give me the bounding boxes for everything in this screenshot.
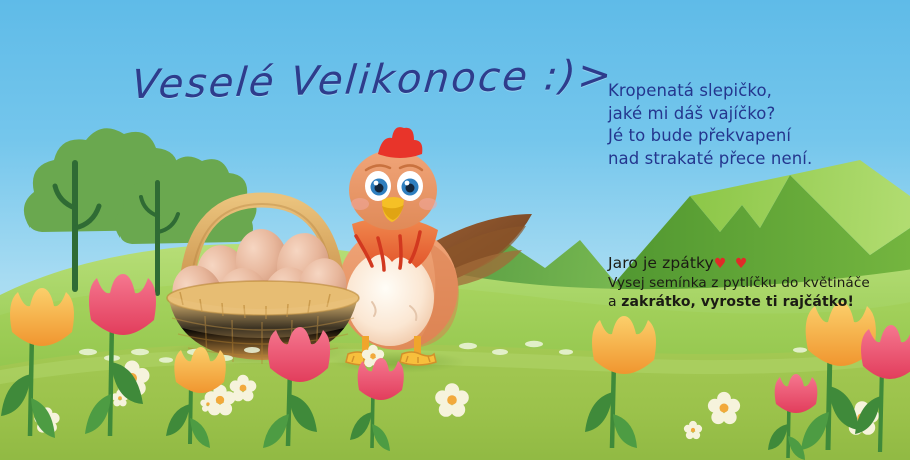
promo-line-3-bold: zakrátko, vyroste ti rajčátko! <box>621 294 854 310</box>
poem-block: Kropenatá slepičko, jaké mi dáš vajíčko?… <box>608 80 904 170</box>
promo-line-3: a zakrátko, vyroste ti rajčátko! <box>608 293 908 312</box>
poem-line-2: jaké mi dáš vajíčko? <box>608 103 904 126</box>
poem-line-3: Jé to bude překvapení <box>608 125 904 148</box>
promo-line-3-prefix: a <box>608 294 621 310</box>
heart-icon: ♥ ♥ <box>714 256 750 272</box>
promo-block: Jaro je zpátky♥ ♥ Vysej semínka z pytlíč… <box>608 253 908 312</box>
easter-greeting-card: Veselé Velikonoce :)> Kropenatá slepičko… <box>0 0 910 460</box>
promo-line-1-text: Jaro je zpátky <box>608 254 714 272</box>
promo-line-1: Jaro je zpátky♥ ♥ <box>608 253 908 274</box>
page-title: Veselé Velikonoce :)> <box>130 54 535 108</box>
poem-line-4: nad strakaté přece není. <box>608 148 904 171</box>
promo-line-2: Vysej semínka z pytlíčku do květináče <box>608 274 908 293</box>
poem-line-1: Kropenatá slepičko, <box>608 80 904 103</box>
